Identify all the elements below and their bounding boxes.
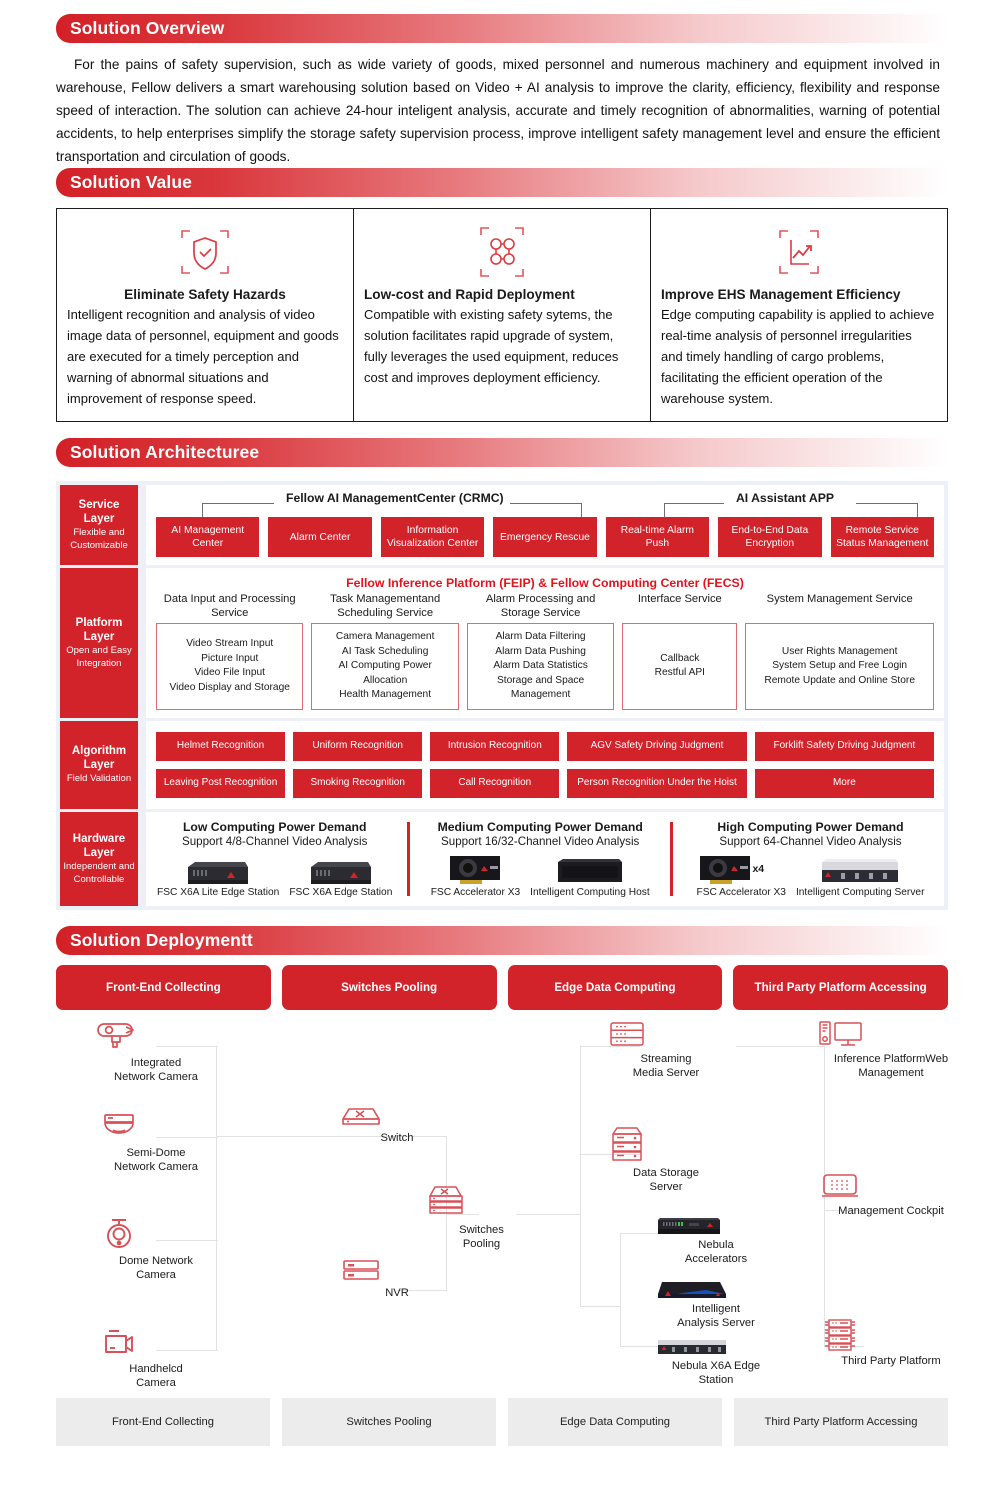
accelerator-card-icon [431, 852, 520, 886]
node-label: Semi-DomeNetwork Camera [96, 1146, 216, 1175]
platform-layer-body: Fellow Inference Platform (FEIP) & Fello… [146, 568, 944, 718]
service-layer-body: Fellow AI ManagementCenter (CRMC) AI Ass… [146, 485, 944, 565]
layer-label-line2: Layer [84, 630, 115, 644]
node-semi-dome-network-camera[interactable]: Semi-DomeNetwork Camera [96, 1112, 216, 1175]
algorithm-row: Leaving Post Recognition Smoking Recogni… [156, 769, 934, 798]
platform-item: Picture Input [201, 653, 258, 664]
service-group-brackets: Fellow AI ManagementCenter (CRMC) AI Ass… [156, 491, 934, 517]
layer-label-line2: Layer [84, 846, 115, 860]
hardware-group-high: High Computing Power Demand Support 64-C… [683, 820, 938, 898]
hardware-item-label: FSC Accelerator X3 [431, 887, 520, 898]
hardware-item-label: FSC X6A Lite Edge Station [157, 887, 279, 898]
service-box-information-visualization-center[interactable]: Information Visualization Center [381, 517, 484, 557]
hardware-item: FSC X6A Lite Edge Station [157, 852, 279, 898]
platform-item: Remote Update and Online Store [764, 675, 915, 686]
hardware-group-title: Medium Computing Power Demand [420, 820, 661, 834]
value-card-title: Improve EHS Management Efficiency [661, 287, 937, 302]
layer-label-line2: Layer [84, 758, 115, 772]
media-server-icon [606, 1020, 726, 1050]
nebula-accelerator-photo [656, 1216, 776, 1236]
node-label: Data StorageServer [606, 1166, 726, 1195]
platform-column-head: Data Input and Processing Service [156, 592, 303, 620]
platform-column-head: System Management Service [745, 592, 934, 620]
accelerator-card-icon [696, 852, 754, 886]
architecture-row-service: Service Layer Flexible and Customizable … [60, 485, 944, 565]
algorithm-box-call-recognition[interactable]: Call Recognition [430, 769, 559, 798]
rack-server-icon [796, 852, 925, 886]
algorithm-box-intrusion-recognition[interactable]: Intrusion Recognition [430, 732, 559, 761]
handheld-camera-icon [96, 1328, 216, 1360]
platform-item: Video Stream Input [186, 638, 273, 649]
hardware-divider [670, 822, 673, 896]
architecture-row-platform: Platform Layer Open and Easy Integration… [60, 568, 944, 718]
layer-label-hardware: Hardware Layer Independent and Controlla… [60, 812, 138, 906]
layer-label-line2: Layer [84, 512, 115, 526]
hardware-groups: Low Computing Power Demand Support 4/8-C… [152, 820, 938, 898]
service-box-real-time-alarm-push[interactable]: Real-time Alarm Push [606, 517, 709, 557]
node-intelligent-analysis-server[interactable]: IntelligentAnalysis Server [656, 1280, 776, 1331]
deployment-footer: Front-End Collecting Switches Pooling Ed… [56, 1398, 948, 1446]
node-handheld-camera[interactable]: HandhelcdCamera [96, 1328, 216, 1391]
layer-label-sub: Independent and Controllable [62, 860, 136, 886]
architecture-row-hardware: Hardware Layer Independent and Controlla… [60, 812, 944, 906]
banner-solution-deployment: Solution Deploymentt [56, 926, 948, 955]
value-cards-container: Eliminate Safety Hazards Intelligent rec… [56, 208, 948, 422]
layer-label-sub: Open and Easy Integration [62, 644, 136, 670]
cockpit-icon [816, 1172, 966, 1202]
hardware-item: x4 FSC Accelerator X3 [696, 852, 785, 898]
tab-edge-data-computing[interactable]: Edge Data Computing [508, 965, 723, 1010]
layer-label-line1: Platform [76, 616, 123, 630]
algorithm-box-more[interactable]: More [755, 769, 934, 798]
analysis-server-photo [656, 1280, 776, 1300]
platform-column-head: Interface Service [622, 592, 737, 620]
footer-edge-data-computing: Edge Data Computing [508, 1398, 722, 1446]
platform-column: Alarm Processing and Storage Service Ala… [467, 592, 614, 710]
hardware-group-title: Low Computing Power Demand [152, 820, 397, 834]
switch-icon [338, 1105, 456, 1129]
hardware-layer-body: Low Computing Power Demand Support 4/8-C… [146, 812, 944, 906]
platform-item: AI Task Scheduling [342, 646, 428, 657]
workstation-icon [816, 1020, 966, 1050]
node-label: NebulaAccelerators [656, 1238, 776, 1267]
service-box-ai-management-center[interactable]: AI Management Center [156, 517, 259, 557]
hardware-item-multiplier: x4 [752, 863, 764, 875]
platform-column: Interface Service Callback Restful API [622, 592, 737, 710]
algorithm-box-leaving-post-recognition[interactable]: Leaving Post Recognition [156, 769, 285, 798]
bullet-camera-icon [96, 1020, 216, 1054]
node-dome-network-camera[interactable]: Dome NetworkCamera [96, 1216, 216, 1283]
platform-column-items: Camera Management AI Task Scheduling AI … [311, 623, 458, 710]
node-data-storage-server[interactable]: Data StorageServer [606, 1126, 726, 1195]
deployment-tabs: Front-End Collecting Switches Pooling Ed… [56, 965, 948, 1010]
node-label: Inference PlatformWebManagement [816, 1052, 966, 1081]
node-nebula-x6a-edge-station[interactable]: Nebula X6A EdgeStation [656, 1337, 776, 1388]
value-card: Eliminate Safety Hazards Intelligent rec… [57, 209, 353, 421]
tab-front-end-collecting[interactable]: Front-End Collecting [56, 965, 271, 1010]
node-nvr[interactable]: NVR [338, 1258, 456, 1301]
service-group-title: Fellow AI ManagementCenter (CRMC) [286, 491, 504, 505]
rack-host-icon [530, 852, 649, 886]
semi-dome-camera-icon [96, 1112, 216, 1144]
algorithm-grid: Helmet Recognition Uniform Recognition I… [156, 732, 934, 798]
algorithm-layer-body: Helmet Recognition Uniform Recognition I… [146, 721, 944, 809]
layer-label-line1: Hardware [73, 832, 125, 846]
footer-front-end-collecting: Front-End Collecting [56, 1398, 270, 1446]
platform-item: Restful API [655, 667, 705, 678]
hardware-item-label: Intelligent Computing Server [796, 887, 925, 898]
layer-label-line1: Algorithm [72, 744, 126, 758]
algorithm-box-person-recognition-under-hoist[interactable]: Person Recognition Under the Hoist [567, 769, 746, 798]
layer-label-platform: Platform Layer Open and Easy Integration [60, 568, 138, 718]
algorithm-row: Helmet Recognition Uniform Recognition I… [156, 732, 934, 761]
platform-item: AI Computing Power Allocation [338, 660, 431, 686]
network-nodes-icon [364, 221, 640, 283]
hardware-group-medium: Medium Computing Power Demand Support 16… [420, 820, 661, 898]
platform-item: Alarm Data Statistics [493, 660, 588, 671]
node-label: SwitchesPooling [424, 1223, 539, 1252]
node-label: IntelligentAnalysis Server [656, 1302, 776, 1331]
platform-item: Health Management [339, 689, 431, 700]
platform-item: Video Display and Storage [169, 682, 289, 693]
algorithm-box-uniform-recognition[interactable]: Uniform Recognition [293, 732, 422, 761]
platform-item: Alarm Data Pushing [495, 646, 586, 657]
layer-label-sub: Field Validation [67, 772, 131, 785]
value-card-body: Edge computing capability is applied to … [661, 304, 937, 409]
switch-stack-icon [424, 1185, 539, 1221]
hardware-group-subtitle: Support 4/8-Channel Video Analysis [152, 835, 397, 848]
node-integrated-network-camera[interactable]: IntegratedNetwork Camera [96, 1020, 216, 1085]
value-card: Improve EHS Management Efficiency Edge c… [650, 209, 947, 421]
connector-line [580, 1046, 581, 1306]
platform-item: Storage and Space Management [497, 675, 584, 701]
edge-station-icon [289, 852, 392, 886]
platform-column-items: User Rights Management System Setup and … [745, 623, 934, 710]
hardware-group-low: Low Computing Power Demand Support 4/8-C… [152, 820, 397, 898]
hardware-group-subtitle: Support 16/32-Channel Video Analysis [420, 835, 661, 848]
hardware-item-label: FSC X6A Edge Station [289, 887, 392, 898]
node-label: StreamingMedia Server [606, 1052, 726, 1081]
platform-item: User Rights Management [782, 646, 898, 657]
overview-paragraph: For the pains of safety supervision, suc… [56, 53, 940, 168]
node-label: HandhelcdCamera [96, 1362, 216, 1391]
service-box-remote-service-status-management[interactable]: Remote Service Status Management [831, 517, 934, 557]
server-rack-icon [816, 1318, 966, 1352]
platform-item: Callback [660, 653, 699, 664]
layer-label-sub: Flexible and Customizable [62, 526, 136, 552]
node-switch[interactable]: Switch [338, 1105, 456, 1146]
hardware-item-label: FSC Accelerator X3 [696, 887, 785, 898]
hardware-items: FSC Accelerator X3 Intelligent Computin [420, 852, 661, 898]
platform-column-items: Callback Restful API [622, 623, 737, 710]
connector-line [216, 1046, 217, 1350]
node-third-party-platform[interactable]: Third Party Platform [816, 1318, 966, 1369]
section-title-deployment: Solution Deploymentt [56, 930, 253, 951]
hardware-divider [407, 822, 410, 896]
banner-solution-architecture: Solution Architecturee [56, 438, 948, 467]
storage-server-icon [606, 1126, 726, 1164]
platform-item: Camera Management [336, 631, 435, 642]
footer-third-party-platform-accessing: Third Party Platform Accessing [734, 1398, 948, 1446]
nvr-icon [338, 1258, 456, 1284]
hardware-group-subtitle: Support 64-Channel Video Analysis [683, 835, 938, 848]
hardware-item: FSC Accelerator X3 [431, 852, 520, 898]
hardware-group-title: High Computing Power Demand [683, 820, 938, 834]
platform-column-head: Alarm Processing and Storage Service [467, 592, 614, 620]
node-label: IntegratedNetwork Camera [96, 1056, 216, 1085]
node-label: Management Cockpit [816, 1204, 966, 1219]
platform-item: System Setup and Free Login [772, 660, 907, 671]
connector-line [736, 1046, 824, 1047]
hardware-items: x4 FSC Accelerator X3 [683, 852, 938, 898]
footer-switches-pooling: Switches Pooling [282, 1398, 496, 1446]
edge-station-photo [656, 1337, 776, 1357]
shield-check-icon [67, 221, 343, 283]
algorithm-box-helmet-recognition[interactable]: Helmet Recognition [156, 732, 285, 761]
banner-solution-overview: Solution Overview [56, 14, 948, 43]
platform-column-items: Video Stream Input Picture Input Video F… [156, 623, 303, 710]
hardware-item: Intelligent Computing Server [796, 852, 925, 898]
node-switches-pooling[interactable]: SwitchesPooling [424, 1185, 539, 1252]
platform-item: Alarm Data Filtering [496, 631, 586, 642]
edge-station-icon [157, 852, 279, 886]
value-card-body: Intelligent recognition and analysis of … [67, 304, 343, 409]
node-label: Third Party Platform [816, 1354, 966, 1369]
platform-column-head: Task Managementand Scheduling Service [311, 592, 458, 620]
node-nebula-accelerators[interactable]: NebulaAccelerators [656, 1216, 776, 1267]
layer-label-service: Service Layer Flexible and Customizable [60, 485, 138, 565]
hardware-item-label: Intelligent Computing Host [530, 887, 649, 898]
platform-column: Data Input and Processing Service Video … [156, 592, 303, 710]
value-card-body: Compatible with existing safety sytems, … [364, 304, 640, 388]
banner-solution-value: Solution Value [56, 168, 948, 197]
section-title-value: Solution Value [56, 172, 192, 193]
node-label: Dome NetworkCamera [96, 1254, 216, 1283]
connector-line [580, 1306, 620, 1307]
platform-column: Task Managementand Scheduling Service Ca… [311, 592, 458, 710]
layer-label-line1: Service [79, 498, 120, 512]
platform-column-items: Alarm Data Filtering Alarm Data Pushing … [467, 623, 614, 710]
platform-column: System Management Service User Rights Ma… [745, 592, 934, 710]
layer-label-algorithm: Algorithm Layer Field Validation [60, 721, 138, 809]
node-label: Switch [338, 1131, 456, 1146]
node-label: Nebula X6A EdgeStation [656, 1359, 776, 1388]
deployment-diagram: IntegratedNetwork Camera Semi-DomeNetwor… [56, 1020, 948, 1390]
service-box-end-to-end-data-encryption[interactable]: End-to-End Data Encryption [718, 517, 821, 557]
architecture-row-algorithm: Algorithm Layer Field Validation Helmet … [60, 721, 944, 809]
tab-third-party-platform-accessing[interactable]: Third Party Platform Accessing [733, 965, 948, 1010]
algorithm-box-forklift-safety-driving-judgment[interactable]: Forklift Safety Driving Judgment [755, 732, 934, 761]
node-label: NVR [338, 1286, 456, 1301]
platform-item: Video File Input [194, 667, 265, 678]
algorithm-box-agv-safety-driving-judgment[interactable]: AGV Safety Driving Judgment [567, 732, 746, 761]
node-inference-platform-web-management[interactable]: Inference PlatformWebManagement [816, 1020, 966, 1081]
hardware-item: FSC X6A Edge Station [289, 852, 392, 898]
node-streaming-media-server[interactable]: StreamingMedia Server [606, 1020, 726, 1081]
service-group-title: AI Assistant APP [736, 491, 834, 505]
platform-columns: Data Input and Processing Service Video … [156, 592, 934, 710]
section-title-overview: Solution Overview [56, 18, 224, 39]
service-box-alarm-center[interactable]: Alarm Center [268, 517, 371, 557]
trend-chart-icon [661, 221, 937, 283]
tab-switches-pooling[interactable]: Switches Pooling [282, 965, 497, 1010]
connector-line [620, 1233, 621, 1346]
service-box-emergency-rescue[interactable]: Emergency Rescue [493, 517, 596, 557]
platform-layer-title: Fellow Inference Platform (FEIP) & Fello… [156, 576, 934, 590]
algorithm-box-smoking-recognition[interactable]: Smoking Recognition [293, 769, 422, 798]
node-management-cockpit[interactable]: Management Cockpit [816, 1172, 966, 1219]
value-card-title: Eliminate Safety Hazards [67, 287, 343, 302]
hardware-items: FSC X6A Lite Edge Station [152, 852, 397, 898]
section-title-architecture: Solution Architecturee [56, 442, 259, 463]
hardware-item: Intelligent Computing Host [530, 852, 649, 898]
service-boxes: AI Management Center Alarm Center Inform… [156, 517, 934, 557]
dome-camera-icon [96, 1216, 216, 1252]
architecture-diagram: Service Layer Flexible and Customizable … [56, 481, 948, 910]
value-card: Low-cost and Rapid Deployment Compatible… [353, 209, 650, 421]
value-card-title: Low-cost and Rapid Deployment [364, 287, 640, 302]
